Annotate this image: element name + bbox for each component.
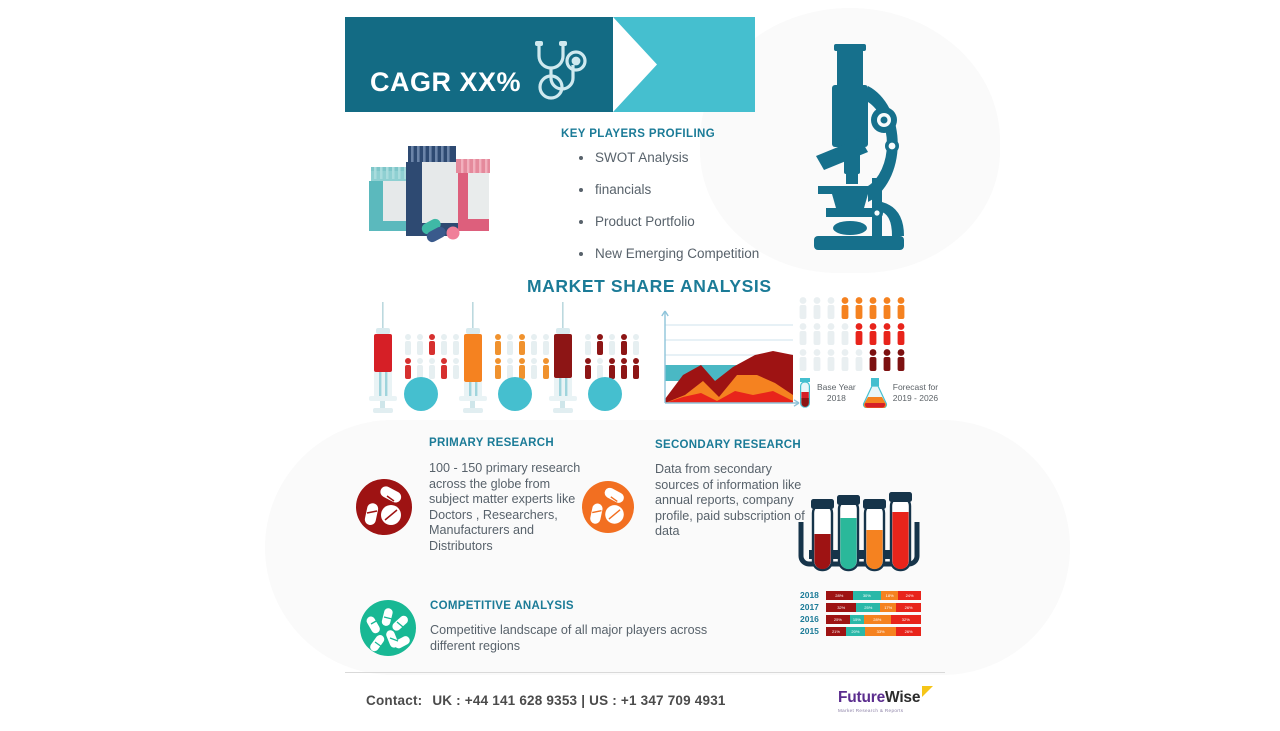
list-item: Product Portfolio xyxy=(575,214,759,229)
bar-segment: 25% xyxy=(826,615,850,624)
market-area-chart xyxy=(653,303,803,415)
legend-item-base-year: Base Year 2018 xyxy=(798,378,856,408)
bar-segment: 28% xyxy=(826,591,853,600)
legend-base-year-text: Base Year 2018 xyxy=(817,382,856,404)
test-tube-rack-icon xyxy=(795,492,923,580)
bar-segment: 30% xyxy=(853,591,882,600)
logo-future-text: Future xyxy=(838,689,885,706)
stacked-bar: 28% 30% 18% 24% xyxy=(826,591,921,600)
secondary-research-title: SECONDARY RESEARCH xyxy=(655,439,801,451)
footer-divider xyxy=(345,672,945,673)
test-tube-icon xyxy=(798,378,812,408)
list-item: New Emerging Competition xyxy=(575,246,759,261)
logo-tagline: Market Research & Reports xyxy=(838,708,920,713)
cagr-ribbon: CAGR XX% xyxy=(345,17,755,112)
logo-swoosh-icon xyxy=(922,686,933,697)
legend-forecast-text: Forecast for 2019 - 2026 xyxy=(893,382,938,404)
chart-legend: Base Year 2018 Forecast for 2019 - 2026 xyxy=(798,378,938,408)
competitive-analysis-body: Competitive landscape of all major playe… xyxy=(430,623,720,654)
pills-circle-icon xyxy=(356,479,412,535)
table-row: 2016 25% 15% 28% 32% xyxy=(800,614,921,624)
bar-segment: 32% xyxy=(826,603,856,612)
legend-item-forecast: Forecast for 2019 - 2026 xyxy=(862,378,938,408)
year-share-bar-chart: 2018 28% 30% 18% 24% 2017 32% 25% 17% 26… xyxy=(800,590,921,638)
competitive-analysis-title: COMPETITIVE ANALYSIS xyxy=(430,600,574,612)
year-label: 2018 xyxy=(800,590,826,600)
table-row: 2015 21% 20% 33% 26% xyxy=(800,626,921,636)
bar-segment: 25% xyxy=(856,603,880,612)
bar-segment: 28% xyxy=(864,615,891,624)
year-label: 2016 xyxy=(800,614,826,624)
key-players-list: SWOT Analysis financials Product Portfol… xyxy=(575,150,759,278)
pills-circle-icon xyxy=(582,481,634,533)
market-share-title: MARKET SHARE ANALYSIS xyxy=(527,276,772,297)
list-item: SWOT Analysis xyxy=(575,150,759,165)
primary-research-body: 100 - 150 primary research across the gl… xyxy=(429,461,584,554)
capsules-circle-icon xyxy=(360,600,416,656)
contact-label: Contact: xyxy=(366,693,422,708)
year-label: 2017 xyxy=(800,602,826,612)
contact-uk: UK : +44 141 628 9353 xyxy=(432,693,577,708)
key-players-title: KEY PLAYERS PROFILING xyxy=(561,128,715,140)
contact-line: Contact: UK : +44 141 628 9353 | US : +1… xyxy=(366,693,726,708)
bar-segment: 17% xyxy=(880,603,896,612)
ribbon-light-panel xyxy=(613,17,755,112)
microscope-icon xyxy=(806,28,919,256)
contact-us: US : +1 347 709 4931 xyxy=(589,693,725,708)
table-row: 2017 32% 25% 17% 26% xyxy=(800,602,921,612)
primary-research-title: PRIMARY RESEARCH xyxy=(429,437,554,449)
stacked-bar: 25% 15% 28% 32% xyxy=(826,615,921,624)
table-row: 2018 28% 30% 18% 24% xyxy=(800,590,921,600)
year-label: 2015 xyxy=(800,626,826,636)
bar-segment: 21% xyxy=(826,627,846,636)
bar-segment: 18% xyxy=(881,591,898,600)
logo-wordmark: FutureWise xyxy=(838,689,920,707)
flask-icon xyxy=(862,378,888,408)
bar-segment: 26% xyxy=(896,627,921,636)
logo-wise-text: Wise xyxy=(885,689,920,706)
bar-segment: 32% xyxy=(891,615,921,624)
population-pictogram xyxy=(797,297,915,373)
syringe-comparison-chart xyxy=(358,302,648,417)
secondary-research-body: Data from secondary sources of informati… xyxy=(655,462,805,540)
stethoscope-icon xyxy=(531,39,595,101)
bar-segment: 20% xyxy=(846,627,865,636)
stacked-bar: 32% 25% 17% 26% xyxy=(826,603,921,612)
bar-segment: 15% xyxy=(850,615,864,624)
list-item: financials xyxy=(575,182,759,197)
infographic-canvas: CAGR XX% xyxy=(0,0,1280,731)
futurewise-logo: FutureWise Market Research & Reports xyxy=(838,689,920,713)
contact-separator: | xyxy=(581,693,585,708)
pill-bottles-icon xyxy=(368,143,493,248)
bar-segment: 24% xyxy=(898,591,921,600)
bar-segment: 26% xyxy=(896,603,921,612)
stacked-bar: 21% 20% 33% 26% xyxy=(826,627,921,636)
bar-segment: 33% xyxy=(865,627,896,636)
cagr-label: CAGR XX% xyxy=(370,67,521,98)
